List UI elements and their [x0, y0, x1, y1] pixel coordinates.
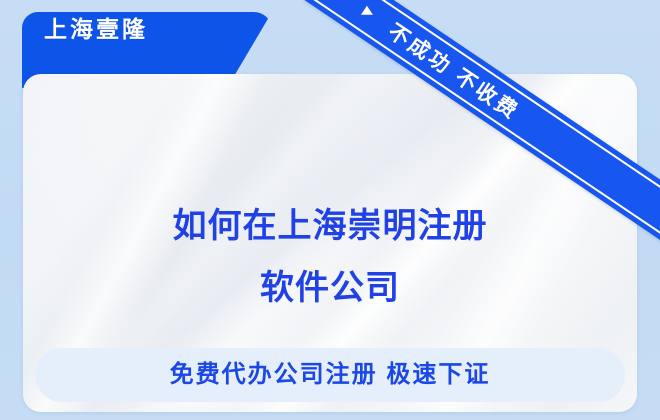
- cta-banner[interactable]: 免费代办公司注册 极速下证: [35, 348, 625, 402]
- poster-canvas: 上海壹隆 如何在上海崇明注册 软件公司 免费代办公司注册 极速下证 不成功 不收…: [0, 0, 660, 420]
- page-title-line-1: 如何在上海崇明注册: [23, 195, 637, 257]
- triangle-up-icon: [361, 6, 373, 15]
- cta-banner-label: 免费代办公司注册 极速下证: [170, 363, 491, 387]
- page-title-line-2: 软件公司: [23, 257, 637, 319]
- brand-tab-label: 上海壹隆: [44, 18, 148, 41]
- page-title: 如何在上海崇明注册 软件公司: [23, 195, 637, 319]
